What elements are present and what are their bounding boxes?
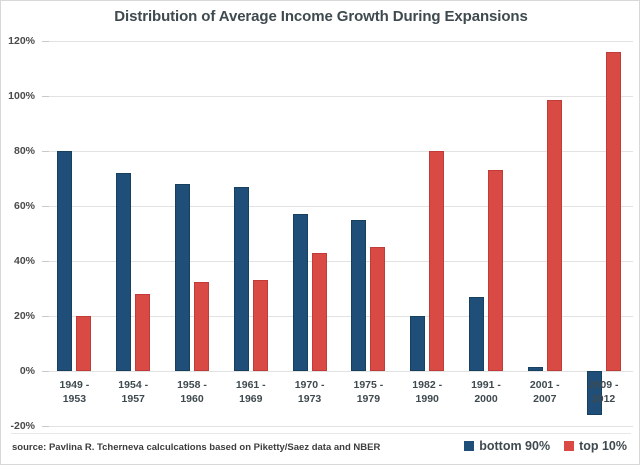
bar-bottom-90 — [293, 214, 308, 371]
bar-top-10 — [194, 282, 209, 371]
gridline — [45, 261, 633, 262]
plot-area — [45, 41, 633, 426]
bar-top-10 — [370, 247, 385, 371]
y-axis-label: 40% — [0, 255, 35, 267]
bar-top-10 — [135, 294, 150, 371]
x-axis-label: 1970 -1973 — [280, 378, 339, 406]
x-axis-label-line: 1970 - — [280, 378, 339, 392]
x-axis-label: 1991 -2000 — [457, 378, 516, 406]
y-axis-label: 120% — [0, 35, 35, 47]
chart-legend: bottom 90%top 10% — [464, 439, 627, 453]
y-axis-label: 100% — [0, 90, 35, 102]
gridline — [45, 371, 633, 372]
gridline — [45, 151, 633, 152]
bar-bottom-90 — [410, 316, 425, 371]
y-axis-label: -20% — [0, 420, 35, 432]
bar-bottom-90 — [57, 151, 72, 371]
x-axis-label: 1958 -1960 — [163, 378, 222, 406]
bar-bottom-90 — [175, 184, 190, 371]
bar-top-10 — [312, 253, 327, 371]
x-axis-label-line: 1958 - — [163, 378, 222, 392]
legend-label: bottom 90% — [479, 439, 550, 453]
y-axis-tick — [42, 151, 49, 152]
y-axis-tick — [42, 261, 49, 262]
y-axis-label: 0% — [0, 365, 35, 377]
x-axis-label-line: 2001 - — [515, 378, 574, 392]
x-axis-label-line: 1957 — [104, 392, 163, 406]
bar-bottom-90 — [528, 367, 543, 371]
x-axis-label-line: 2000 — [457, 392, 516, 406]
bar-bottom-90 — [116, 173, 131, 371]
x-axis-label: 1975 -1979 — [339, 378, 398, 406]
bar-top-10 — [606, 52, 621, 371]
x-axis-label-line: 1949 - — [45, 378, 104, 392]
legend-item[interactable]: top 10% — [564, 439, 627, 453]
y-axis-label: 80% — [0, 145, 35, 157]
x-axis-label-line: 2009 - — [574, 378, 633, 392]
bar-top-10 — [429, 151, 444, 371]
gridline — [45, 41, 633, 42]
bar-top-10 — [253, 280, 268, 371]
x-axis-label-line: 1979 — [339, 392, 398, 406]
gridline — [45, 316, 633, 317]
x-axis-label-line: 2012 — [574, 392, 633, 406]
x-axis-label-line: 1991 - — [457, 378, 516, 392]
x-axis-label: 1961 -1969 — [221, 378, 280, 406]
x-axis-label-line: 1953 — [45, 392, 104, 406]
x-axis-label-line: 2007 — [515, 392, 574, 406]
gridline — [45, 96, 633, 97]
x-axis-label-line: 1960 — [163, 392, 222, 406]
gridline — [45, 426, 633, 427]
y-axis-tick — [42, 206, 49, 207]
source-note: source: Pavlina R. Tcherneva calculcatio… — [12, 442, 380, 453]
x-axis-label-line: 1990 — [398, 392, 457, 406]
gridline — [45, 206, 633, 207]
x-axis-label: 1982 -1990 — [398, 378, 457, 406]
legend-swatch-icon — [564, 441, 574, 451]
x-axis-label: 2009 -2012 — [574, 378, 633, 406]
x-axis-label-line: 1982 - — [398, 378, 457, 392]
x-axis-label-line: 1975 - — [339, 378, 398, 392]
bar-bottom-90 — [234, 187, 249, 371]
y-axis-label: 60% — [0, 200, 35, 212]
x-axis-label: 1954 -1957 — [104, 378, 163, 406]
chart-title: Distribution of Average Income Growth Du… — [1, 8, 640, 25]
legend-label: top 10% — [579, 439, 627, 453]
bar-top-10 — [76, 316, 91, 371]
y-axis-tick — [42, 96, 49, 97]
bar-bottom-90 — [351, 220, 366, 371]
x-axis-label-line: 1954 - — [104, 378, 163, 392]
x-axis-label-line: 1973 — [280, 392, 339, 406]
legend-item[interactable]: bottom 90% — [464, 439, 550, 453]
legend-swatch-icon — [464, 441, 474, 451]
bar-top-10 — [488, 170, 503, 371]
bar-top-10 — [547, 100, 562, 371]
y-axis-label: 20% — [0, 310, 35, 322]
x-axis-label-line: 1961 - — [221, 378, 280, 392]
y-axis-tick — [42, 41, 49, 42]
y-axis-tick — [42, 371, 49, 372]
bar-bottom-90 — [469, 297, 484, 371]
x-axis-label-line: 1969 — [221, 392, 280, 406]
chart-container: Distribution of Average Income Growth Du… — [0, 0, 640, 465]
footer-divider — [11, 433, 631, 434]
x-axis-label: 2001 -2007 — [515, 378, 574, 406]
x-axis-label: 1949 -1953 — [45, 378, 104, 406]
y-axis-tick — [42, 316, 49, 317]
y-axis-tick — [42, 426, 49, 427]
